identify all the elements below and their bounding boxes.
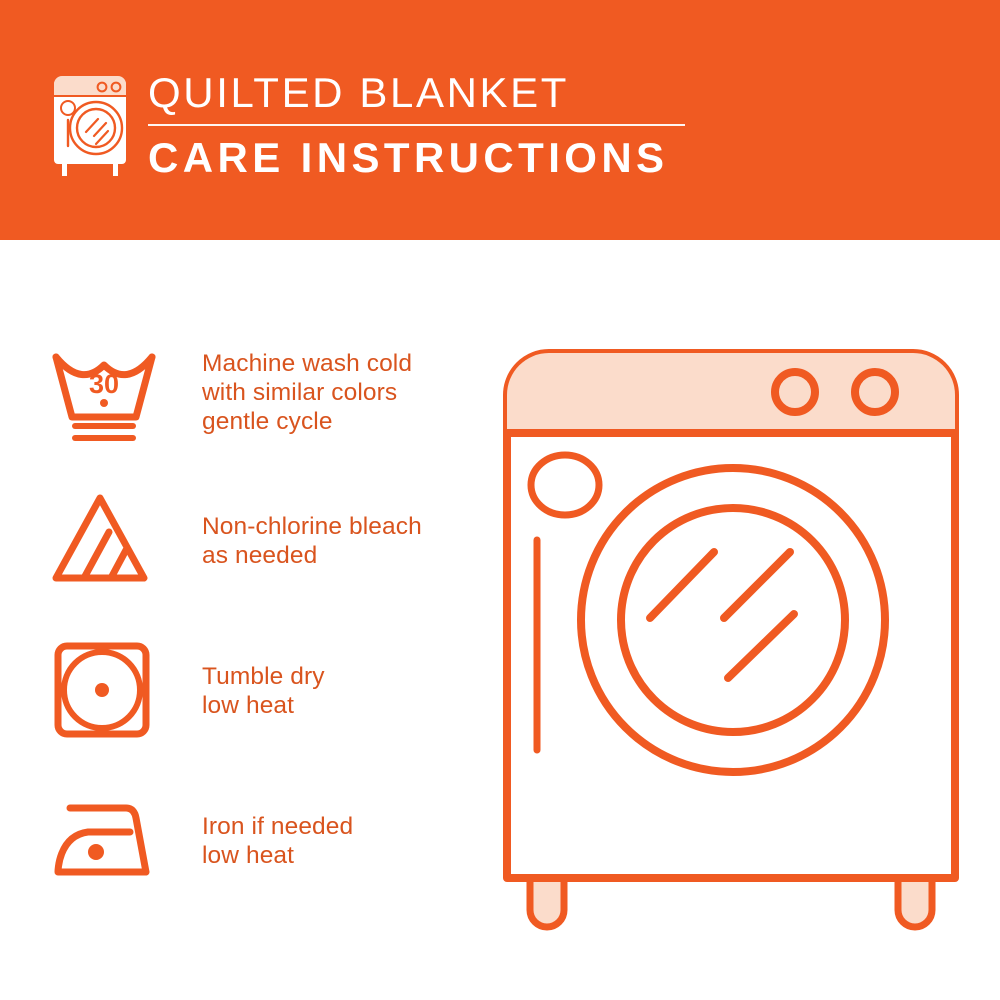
header-title-block: QUILTED BLANKET CARE INSTRUCTIONS [148, 66, 708, 184]
text-line: Tumble dry [202, 662, 325, 691]
text-line: Non-chlorine bleach [202, 512, 422, 541]
list-item-text: Machine wash cold with similar colors ge… [202, 345, 412, 436]
text-line: low heat [202, 841, 353, 870]
care-instruction-list: 30 Machine wash cold with similar colors… [0, 240, 480, 1000]
text-line: with similar colors [202, 378, 412, 407]
title-divider [148, 124, 685, 126]
bleach-triangle-icon [48, 490, 160, 590]
list-item-text: Non-chlorine bleach as needed [202, 490, 422, 570]
tumble-dry-icon [48, 640, 160, 740]
text-line: Machine wash cold [202, 349, 412, 378]
iron-icon [48, 788, 160, 888]
wash-basin-30-icon: 30 [48, 345, 160, 445]
text-line: low heat [202, 691, 325, 720]
text-line: gentle cycle [202, 407, 412, 436]
list-item: Tumble dry low heat [48, 640, 478, 740]
header-banner: QUILTED BLANKET CARE INSTRUCTIONS [0, 0, 1000, 240]
washing-machine-icon [46, 62, 142, 180]
list-item-text: Iron if needed low heat [202, 788, 353, 870]
list-item: Iron if needed low heat [48, 788, 478, 888]
washing-machine-illustration [480, 330, 980, 950]
text-line: as needed [202, 541, 422, 570]
wash-temperature-label: 30 [89, 369, 119, 399]
text-line: Iron if needed [202, 812, 353, 841]
care-instructions-page: QUILTED BLANKET CARE INSTRUCTIONS 30 Mac… [0, 0, 1000, 1000]
list-item: 30 Machine wash cold with similar colors… [48, 345, 478, 445]
page-subtitle: CARE INSTRUCTIONS [148, 132, 708, 184]
list-item: Non-chlorine bleach as needed [48, 490, 478, 590]
page-title: QUILTED BLANKET [148, 66, 708, 120]
list-item-text: Tumble dry low heat [202, 640, 325, 720]
